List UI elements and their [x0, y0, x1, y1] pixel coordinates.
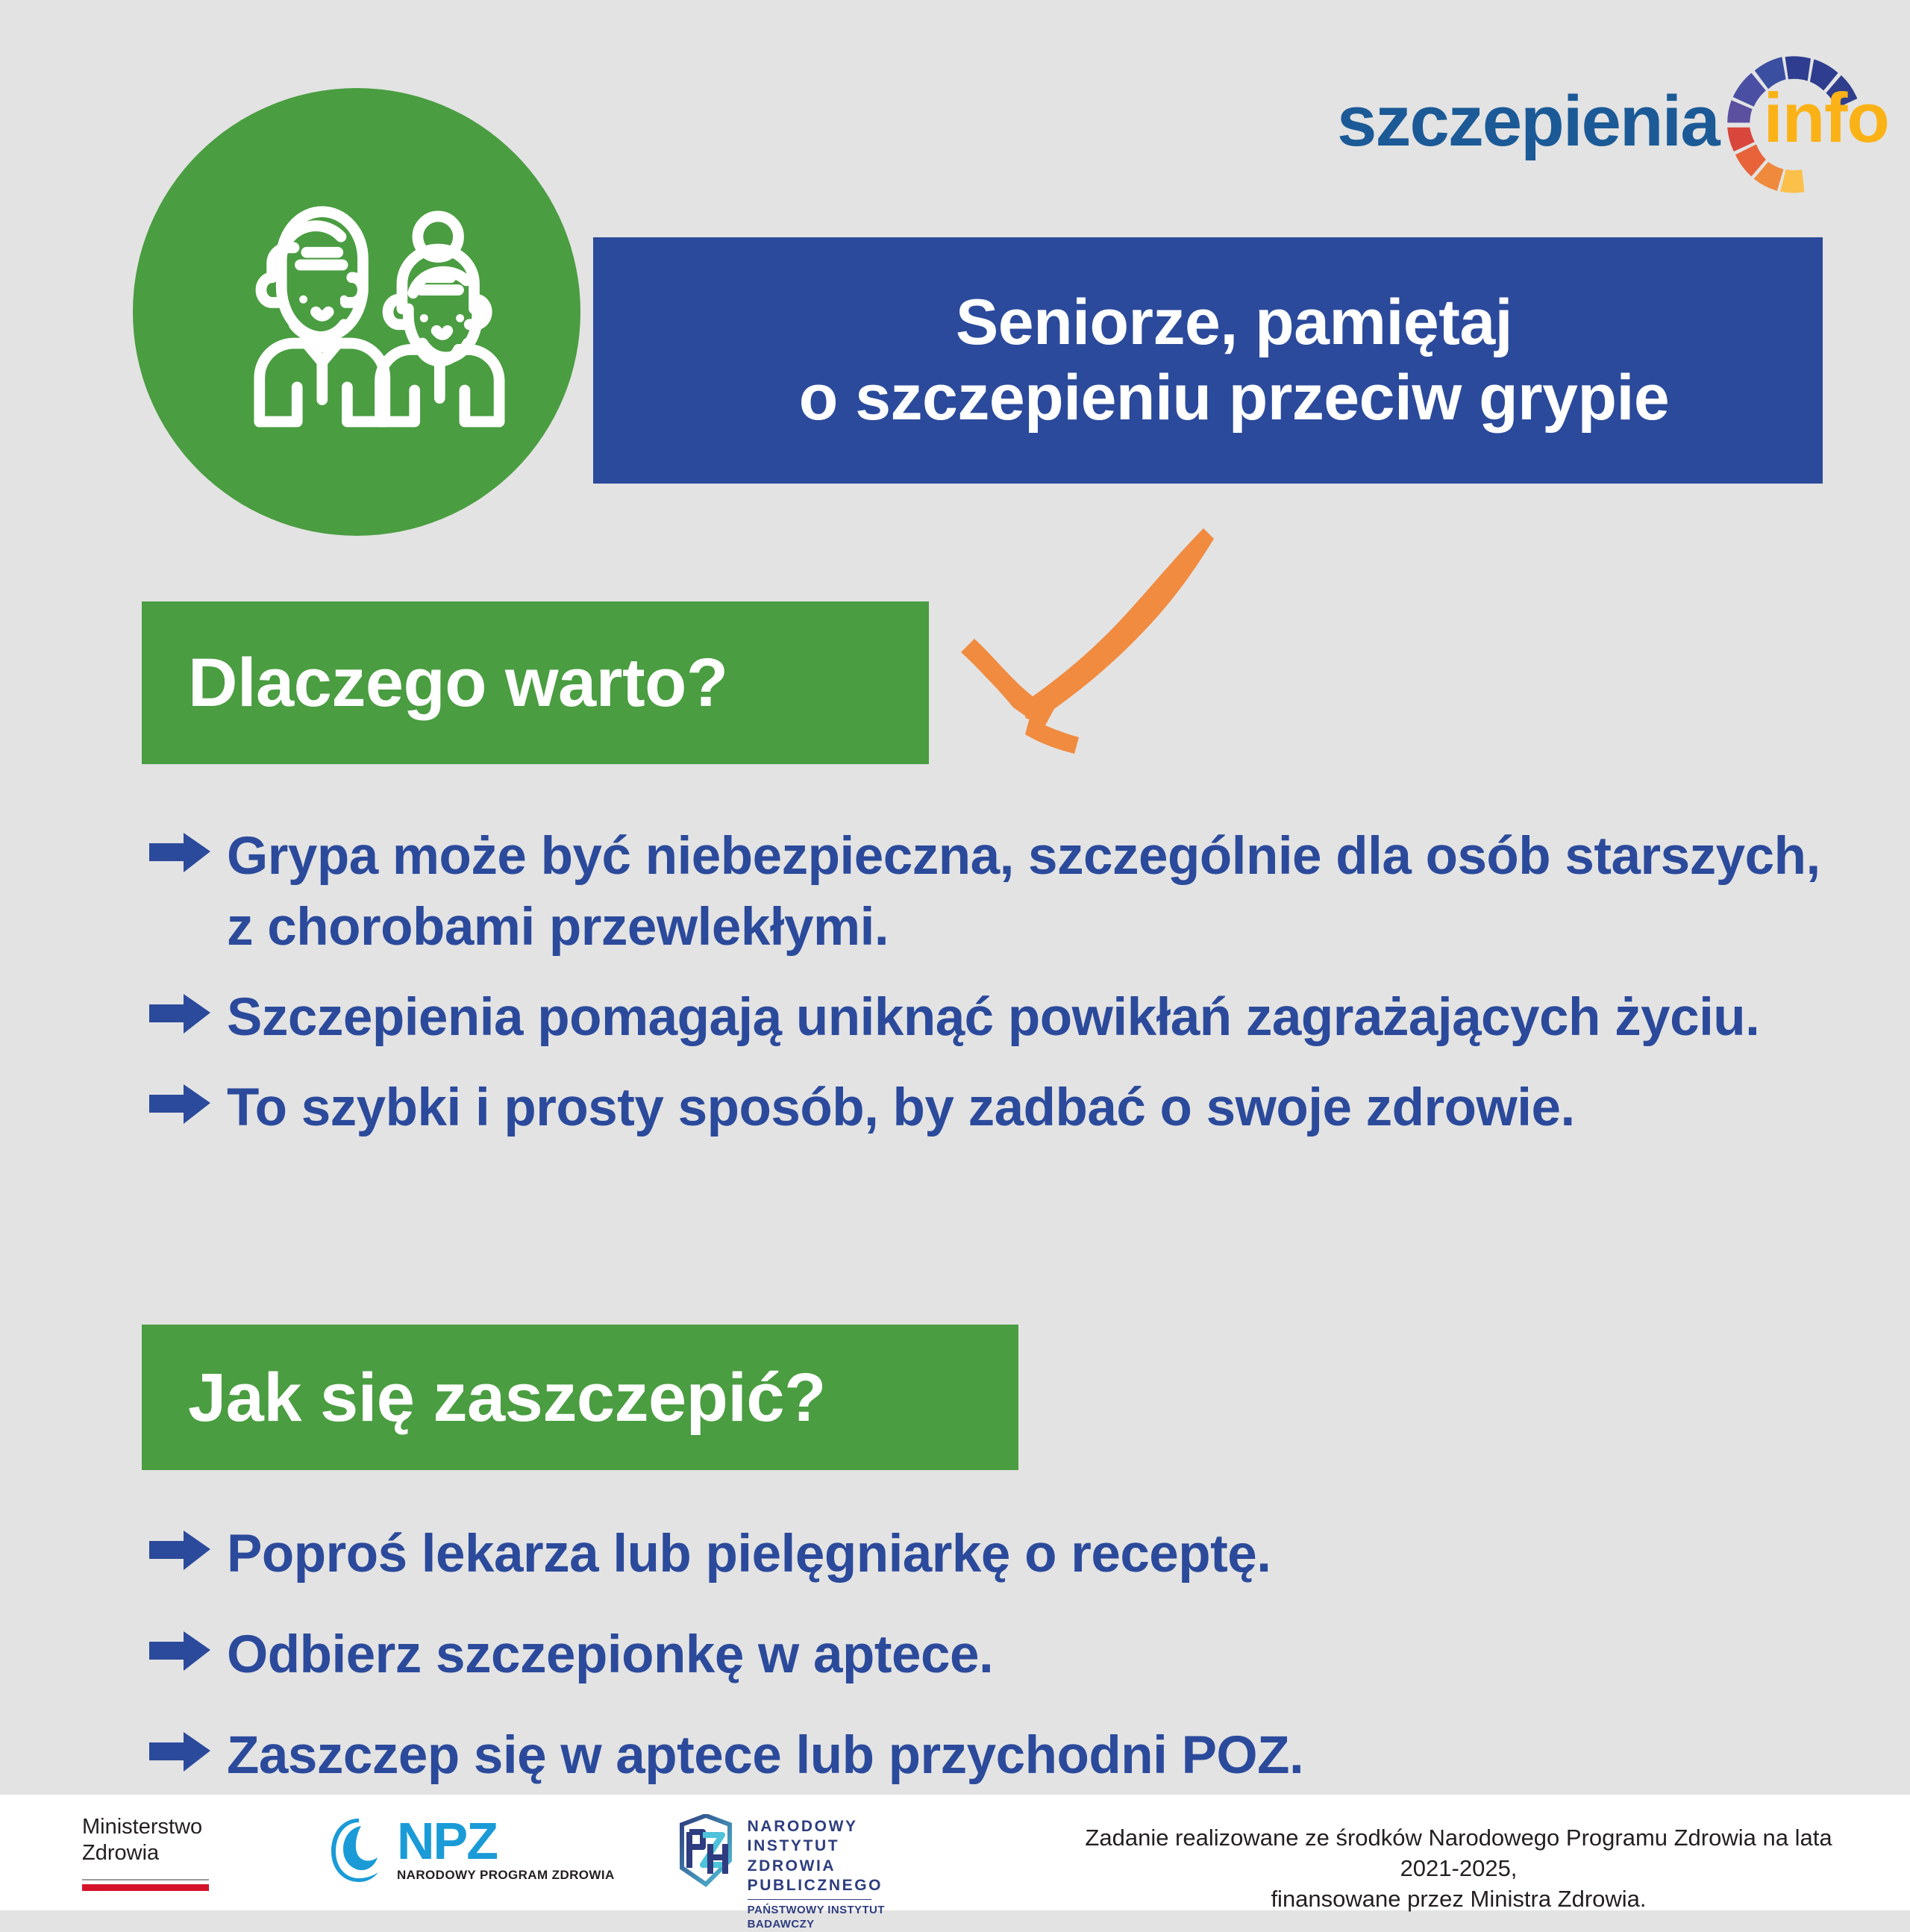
list-item: Szczepienia pomagają uniknąć powikłań za… — [149, 982, 1828, 1053]
ministry-label-line1: Ministerstwo — [82, 1814, 269, 1840]
right-arrow-icon — [149, 1072, 227, 1126]
polish-flag-red-bar-icon — [82, 1884, 209, 1891]
hand-drawn-arrow-icon — [948, 522, 1216, 769]
bullet-list-how: Poproś lekarza lub pielęgniarkę o recept… — [149, 1519, 1828, 1821]
list-item-label: To szybki i prosty sposób, by zadbać o s… — [227, 1072, 1575, 1143]
section-banner-why: Dlaczego warto? — [142, 601, 929, 764]
section-banner-why-label: Dlaczego warto? — [142, 648, 728, 717]
npz-logo: NPZ NARODOWY PROGRAM ZDROWIA — [328, 1814, 615, 1886]
footer-logo-group: Ministerstwo Zdrowia NPZ NARODOWY PROGRA… — [82, 1814, 885, 1932]
szczepienia-info-logo[interactable]: szczepienia info — [1337, 58, 1859, 185]
list-item-label: Odbierz szczepionkę w aptece. — [227, 1619, 993, 1690]
npz-wordmark: NPZ — [397, 1817, 615, 1865]
list-item-label: Grypa może być niebezpieczna, szczególni… — [227, 821, 1828, 963]
funding-note-line1: Zadanie realizowane ze środków Narodoweg… — [1067, 1823, 1850, 1884]
pzh-line1: NARODOWY — [748, 1817, 885, 1836]
list-item: Zaszczep się w aptece lub przychodni POZ… — [149, 1720, 1828, 1791]
polish-flag-rule-icon — [82, 1879, 209, 1881]
right-arrow-icon — [149, 982, 227, 1036]
nizp-pzh-logo: NARODOWY INSTYTUT ZDROWIA PUBLICZNEGO PA… — [673, 1814, 885, 1932]
list-item: Grypa może być niebezpieczna, szczególni… — [149, 821, 1828, 963]
right-arrow-icon — [149, 1720, 227, 1774]
header-banner: Seniorze, pamiętaj o szczepieniu przeciw… — [593, 237, 1823, 484]
footer: Ministerstwo Zdrowia NPZ NARODOWY PROGRA… — [0, 1795, 1910, 1910]
list-item-label: Zaszczep się w aptece lub przychodni POZ… — [227, 1720, 1303, 1791]
ministry-of-health-logo: Ministerstwo Zdrowia — [82, 1814, 269, 1891]
npz-subtitle: NARODOWY PROGRAM ZDROWIA — [397, 1868, 615, 1883]
funding-note: Zadanie realizowane ze środków Narodoweg… — [1067, 1823, 1850, 1915]
npz-text-group: NPZ NARODOWY PROGRAM ZDROWIA — [397, 1817, 615, 1883]
page-title: Seniorze, pamiętaj o szczepieniu przeciw… — [732, 285, 1684, 435]
pzh-divider — [748, 1899, 871, 1900]
bullet-list-why: Grypa może być niebezpieczna, szczególni… — [149, 821, 1828, 1163]
list-item: To szybki i prosty sposób, by zadbać o s… — [149, 1072, 1828, 1143]
segmented-ring-icon: info — [1715, 44, 1859, 204]
pzh-sub2: BADAWCZY — [748, 1917, 885, 1932]
list-item: Odbierz szczepionkę w aptece. — [149, 1619, 1828, 1690]
right-arrow-icon — [149, 1519, 227, 1572]
logo-info-word: info — [1764, 83, 1889, 153]
right-arrow-icon — [149, 821, 227, 875]
list-item: Poproś lekarza lub pielęgniarkę o recept… — [149, 1519, 1828, 1589]
infographic-poster: szczepienia info Seni — [0, 0, 1910, 1910]
right-arrow-icon — [149, 1619, 227, 1673]
pzh-monogram-icon — [673, 1814, 739, 1889]
pzh-line3: ZDROWIA — [748, 1857, 885, 1876]
pzh-text-group: NARODOWY INSTYTUT ZDROWIA PUBLICZNEGO PA… — [748, 1814, 885, 1932]
elderly-couple-icon — [133, 88, 580, 536]
ministry-label-line2: Zdrowia — [82, 1840, 269, 1866]
pzh-line4: PUBLICZNEGO — [748, 1876, 885, 1895]
list-item-label: Poproś lekarza lub pielęgniarkę o recept… — [227, 1519, 1271, 1589]
section-banner-how: Jak się zaszczepić? — [142, 1325, 1018, 1470]
section-banner-how-label: Jak się zaszczepić? — [142, 1363, 826, 1432]
page-title-line2: o szczepieniu przeciw grypie — [799, 360, 1669, 436]
logo-wordmark: szczepienia — [1337, 86, 1719, 157]
list-item-label: Szczepienia pomagają uniknąć powikłań za… — [227, 982, 1759, 1053]
pzh-line2: INSTYTUT — [748, 1836, 885, 1856]
page-title-line1: Seniorze, pamiętaj — [799, 285, 1669, 360]
npz-leaf-icon — [328, 1814, 389, 1886]
